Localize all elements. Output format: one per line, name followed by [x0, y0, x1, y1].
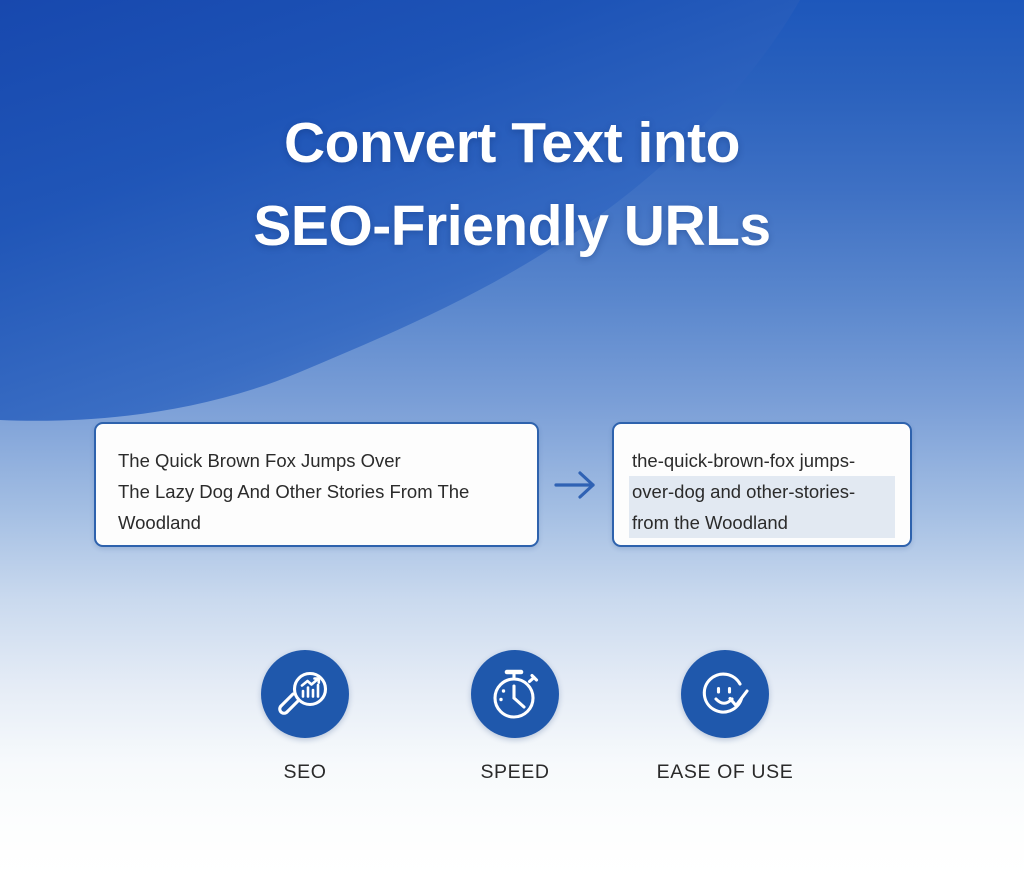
output-line-3: from the Woodland	[632, 507, 892, 538]
input-line-3: Woodland	[118, 507, 519, 538]
feature-ease-label: EASE OF USE	[657, 761, 794, 784]
page-title-line-2: SEO-Friendly URLs	[0, 185, 1024, 268]
conversion-demo: The Quick Brown Fox Jumps Over The Lazy …	[94, 422, 912, 547]
smiley-check-icon	[681, 650, 769, 738]
feature-ease-of-use: EASE OF USE	[620, 650, 830, 784]
input-line-2: The Lazy Dog And Other Stories From The	[118, 476, 519, 507]
feature-speed-label: SPEED	[480, 761, 549, 784]
output-line-1: the-quick-brown-fox jumps-	[632, 445, 892, 476]
page-title-line-1: Convert Text into	[0, 102, 1024, 185]
magnifier-chart-icon	[261, 650, 349, 738]
output-slug-card: the-quick-brown-fox jumps- over-dog and …	[612, 422, 912, 547]
page-title: Convert Text into SEO-Friendly URLs	[0, 102, 1024, 268]
feature-seo-label: SEO	[284, 761, 327, 784]
input-line-1: The Quick Brown Fox Jumps Over	[118, 445, 519, 476]
poster-canvas: Convert Text into SEO-Friendly URLs The …	[0, 0, 1024, 879]
stopwatch-icon	[471, 650, 559, 738]
arrow-right-icon	[539, 422, 612, 547]
feature-list: SEO	[200, 650, 830, 784]
output-line-2: over-dog and other-stories-	[632, 476, 892, 507]
input-text-card: The Quick Brown Fox Jumps Over The Lazy …	[94, 422, 539, 547]
feature-seo: SEO	[200, 650, 410, 784]
feature-speed: SPEED	[410, 650, 620, 784]
